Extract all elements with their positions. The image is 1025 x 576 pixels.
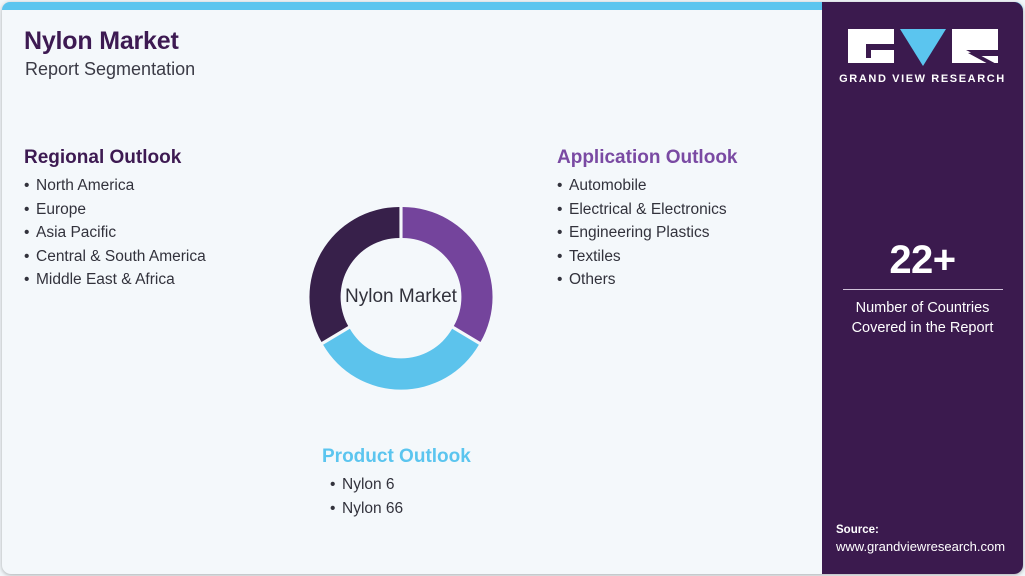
- donut-segment-application: [403, 207, 493, 342]
- bullet-icon: •: [330, 497, 342, 521]
- source-block: Source: www.grandviewresearch.com: [836, 522, 1023, 556]
- donut-segment-product: [323, 329, 479, 390]
- stat-caption: Number of Countries Covered in the Repor…: [822, 298, 1023, 338]
- donut-svg: [308, 204, 494, 390]
- bullet-icon: •: [557, 268, 569, 292]
- regional-outlook-heading: Regional Outlook: [24, 147, 206, 169]
- donut-segment-regional: [309, 207, 399, 342]
- brand-name: GRAND VIEW RESEARCH: [822, 73, 1023, 85]
- stat-divider: [843, 289, 1003, 290]
- list-item: •Nylon 6: [330, 473, 471, 497]
- application-outlook-block: Application Outlook •Automobile •Electri…: [557, 147, 738, 292]
- list-item: •Central & South America: [24, 245, 206, 269]
- list-item: •Automobile: [557, 174, 738, 198]
- side-panel: GRAND VIEW RESEARCH 22+ Number of Countr…: [822, 2, 1023, 574]
- bullet-icon: •: [24, 198, 36, 222]
- main-content-area: Nylon Market Report Segmentation Regiona…: [2, 10, 822, 574]
- stat-number: 22+: [822, 238, 1023, 282]
- stat-caption-line-2: Covered in the Report: [822, 318, 1023, 338]
- bullet-icon: •: [557, 221, 569, 245]
- list-item-label: Middle East & Africa: [36, 271, 175, 288]
- list-item: •Electrical & Electronics: [557, 198, 738, 222]
- bullet-icon: •: [557, 174, 569, 198]
- bullet-icon: •: [24, 174, 36, 198]
- list-item-label: Nylon 6: [342, 476, 395, 493]
- list-item: •Textiles: [557, 245, 738, 269]
- list-item-label: Automobile: [569, 177, 647, 194]
- list-item: •Europe: [24, 198, 206, 222]
- regional-outlook-block: Regional Outlook •North America •Europe …: [24, 147, 206, 292]
- gvr-logo-icon: [848, 28, 998, 66]
- list-item-label: Europe: [36, 201, 86, 218]
- page-title: Nylon Market: [24, 27, 179, 56]
- regional-outlook-list: •North America •Europe •Asia Pacific •Ce…: [24, 174, 206, 292]
- bullet-icon: •: [330, 473, 342, 497]
- list-item-label: Nylon 66: [342, 500, 403, 517]
- list-item: •North America: [24, 174, 206, 198]
- list-item-label: North America: [36, 177, 134, 194]
- list-item-label: Asia Pacific: [36, 224, 116, 241]
- product-outlook-list: •Nylon 6 •Nylon 66: [322, 473, 471, 520]
- list-item: •Others: [557, 268, 738, 292]
- list-item: •Asia Pacific: [24, 221, 206, 245]
- product-outlook-heading: Product Outlook: [322, 446, 471, 468]
- list-item: •Engineering Plastics: [557, 221, 738, 245]
- bullet-icon: •: [24, 268, 36, 292]
- country-stat-block: 22+ Number of Countries Covered in the R…: [822, 238, 1023, 338]
- segmentation-donut-chart: Nylon Market: [308, 204, 494, 390]
- list-item-label: Electrical & Electronics: [569, 201, 727, 218]
- bullet-icon: •: [557, 245, 569, 269]
- source-label: Source:: [836, 522, 1023, 538]
- brand-logo: GRAND VIEW RESEARCH: [822, 28, 1023, 85]
- list-item-label: Textiles: [569, 248, 621, 265]
- source-url[interactable]: www.grandviewresearch.com: [836, 538, 1023, 556]
- bullet-icon: •: [24, 245, 36, 269]
- page-subtitle: Report Segmentation: [25, 59, 195, 80]
- application-outlook-heading: Application Outlook: [557, 147, 738, 169]
- application-outlook-list: •Automobile •Electrical & Electronics •E…: [557, 174, 738, 292]
- list-item-label: Central & South America: [36, 248, 206, 265]
- list-item: •Nylon 66: [330, 497, 471, 521]
- stat-caption-line-1: Number of Countries: [822, 298, 1023, 318]
- bullet-icon: •: [24, 221, 36, 245]
- infographic-canvas: Nylon Market Report Segmentation Regiona…: [0, 0, 1025, 576]
- bullet-icon: •: [557, 198, 569, 222]
- list-item-label: Others: [569, 271, 616, 288]
- list-item-label: Engineering Plastics: [569, 224, 709, 241]
- product-outlook-block: Product Outlook •Nylon 6 •Nylon 66: [322, 446, 471, 520]
- list-item: •Middle East & Africa: [24, 268, 206, 292]
